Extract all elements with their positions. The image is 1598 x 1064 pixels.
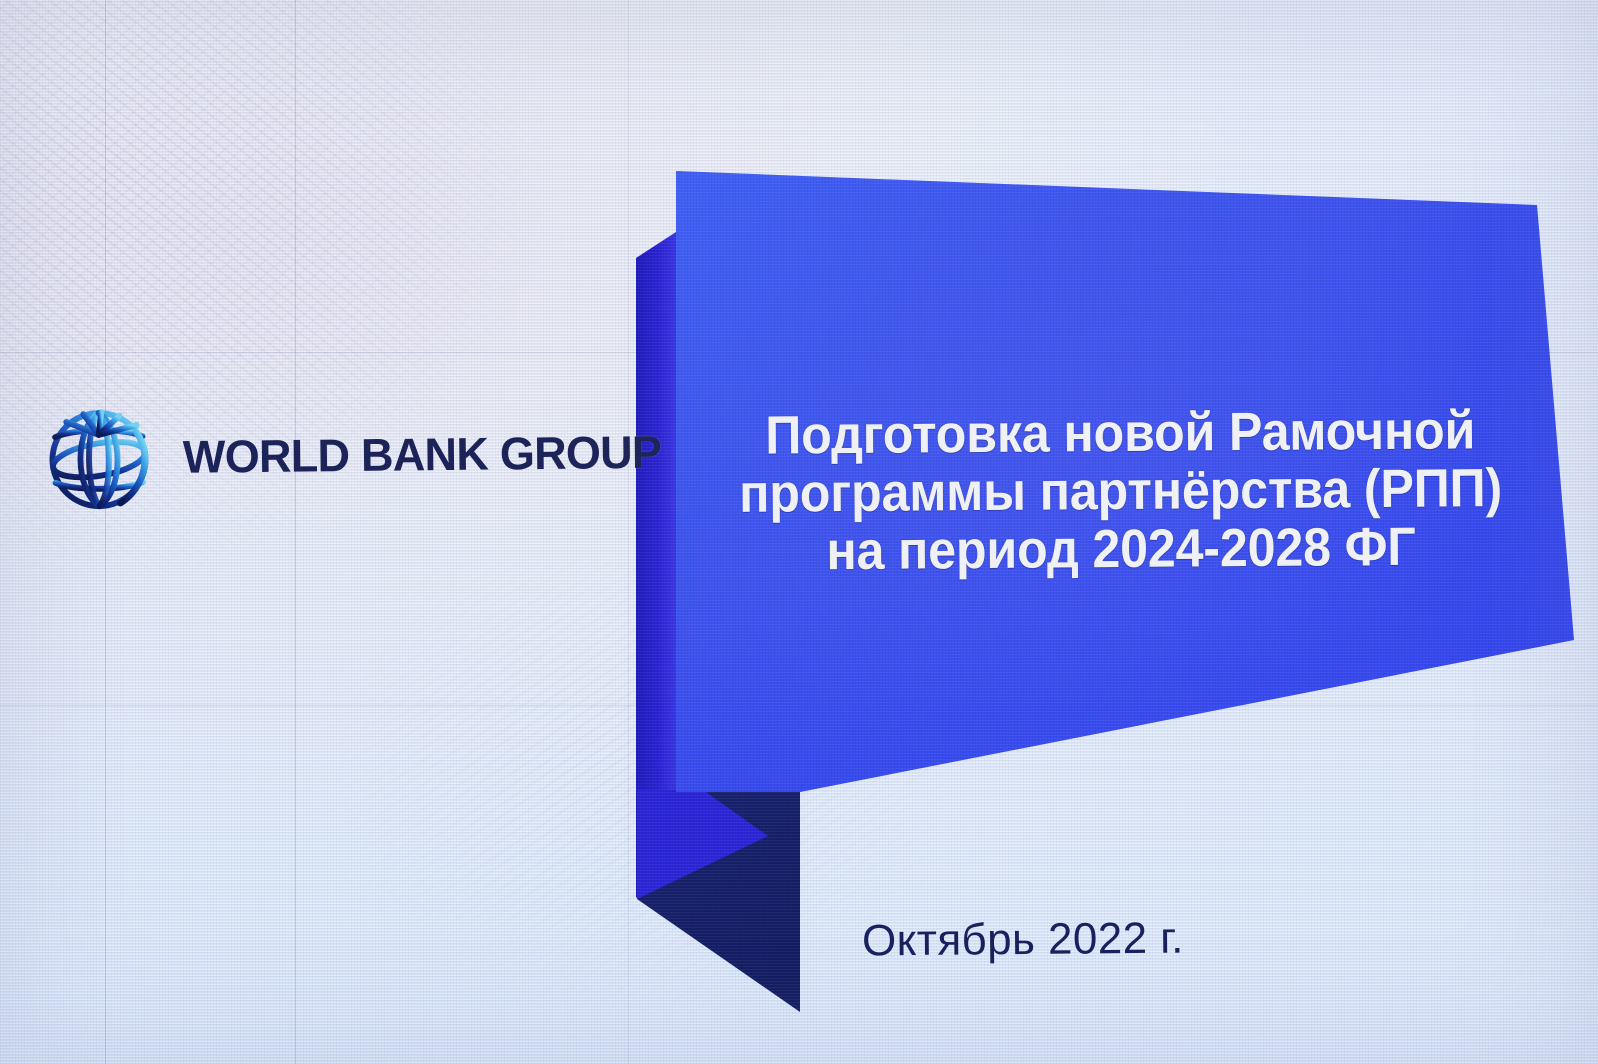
panel-seam-horizontal-1 bbox=[0, 352, 1598, 353]
panel-seam-horizontal-2 bbox=[0, 705, 1598, 706]
slide-screenshot: Подготовка новой Рамочной программы парт… bbox=[0, 0, 1598, 1064]
panel-seam-vertical-3 bbox=[628, 0, 629, 1064]
panel-seam-vertical-1 bbox=[105, 0, 106, 1064]
callout-title: Подготовка новой Рамочной программы парт… bbox=[711, 401, 1531, 581]
world-bank-globe-icon bbox=[41, 400, 156, 515]
world-bank-group-logo: WORLD BANK GROUP bbox=[41, 395, 666, 516]
panel-seam-vertical-2 bbox=[295, 0, 296, 1064]
world-bank-group-wordmark: WORLD BANK GROUP bbox=[183, 425, 662, 484]
slide-date: Октябрь 2022 г. bbox=[862, 914, 1184, 967]
